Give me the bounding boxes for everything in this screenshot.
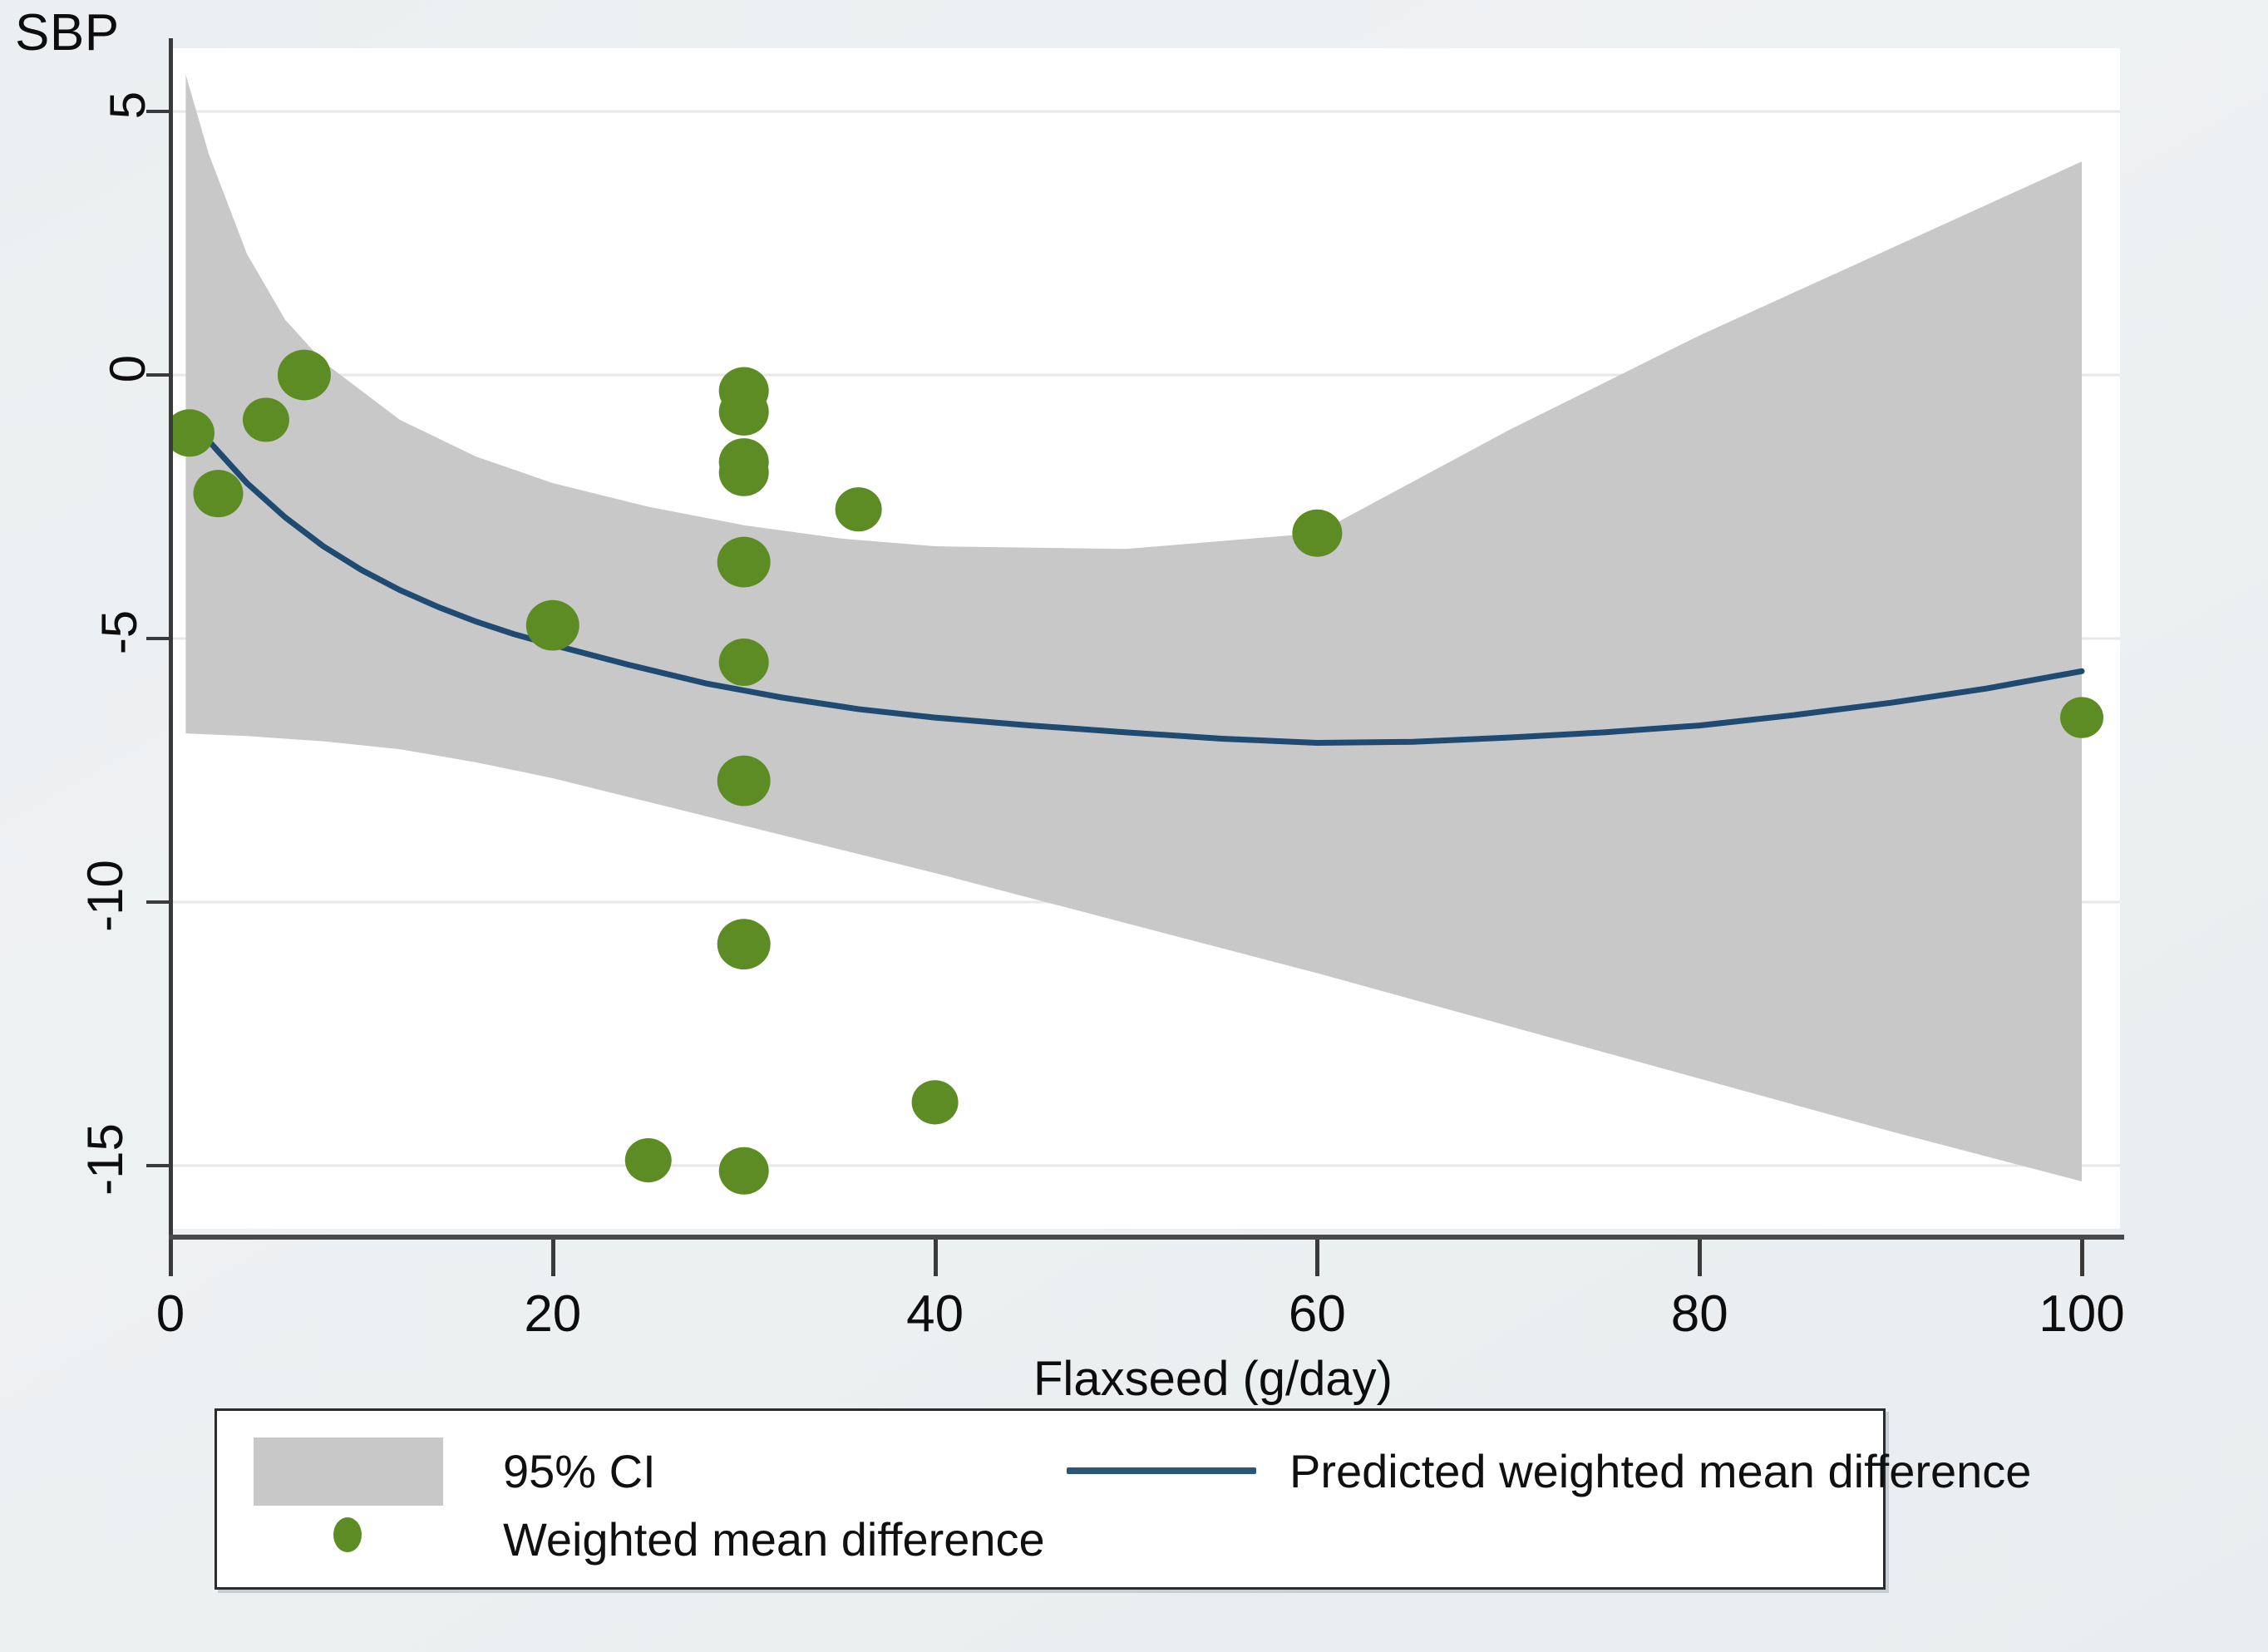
x-tick-label: 100 xyxy=(1990,1285,2173,1344)
x-tick-mark xyxy=(1315,1240,1319,1276)
data-point xyxy=(717,756,771,806)
y-tick-mark xyxy=(146,900,170,904)
plot-area xyxy=(170,48,2120,1229)
chart-figure: SBP 50-5-10-15 020406080100 Flaxseed (g/… xyxy=(0,0,2268,1652)
data-point xyxy=(243,397,289,441)
y-axis-title: SBP xyxy=(15,3,120,62)
legend-label-predicted-weighted-mean-difference: Predicted weighted mean difference xyxy=(1289,1444,2031,1498)
y-tick-label: -10 xyxy=(0,867,141,925)
legend-label-weighted-mean-difference: Weighted mean difference xyxy=(503,1512,1045,1566)
chart-legend: 95% CI Weighted mean difference Predicte… xyxy=(214,1408,1886,1590)
data-point xyxy=(193,470,243,517)
data-point xyxy=(719,1147,769,1195)
x-tick-label: 80 xyxy=(1608,1285,1791,1344)
y-tick-label: 5 xyxy=(0,76,141,134)
y-tick-mark xyxy=(146,637,170,640)
legend-key-point-marker xyxy=(333,1517,362,1552)
data-point xyxy=(1292,510,1342,557)
data-point xyxy=(912,1080,959,1124)
y-tick-label: 0 xyxy=(0,340,141,397)
data-point xyxy=(526,600,579,651)
x-axis-spine xyxy=(169,1235,2124,1240)
x-tick-label: 40 xyxy=(844,1285,1027,1344)
y-tick-label: -5 xyxy=(0,604,141,661)
data-point xyxy=(717,919,771,969)
x-tick-mark xyxy=(1698,1240,1702,1276)
data-point xyxy=(717,537,771,588)
x-tick-mark xyxy=(551,1240,555,1276)
data-point xyxy=(719,449,769,496)
data-point xyxy=(2060,697,2103,737)
x-tick-mark xyxy=(2080,1240,2084,1276)
legend-label-ci: 95% CI xyxy=(503,1444,656,1498)
y-tick-mark xyxy=(146,1164,170,1167)
legend-key-predicted-line xyxy=(1067,1467,1256,1474)
x-tick-label: 60 xyxy=(1225,1285,1408,1344)
x-tick-label: 0 xyxy=(79,1285,262,1344)
confidence-interval-band xyxy=(185,75,2082,1181)
y-tick-label: -15 xyxy=(0,1131,141,1188)
data-point xyxy=(719,639,769,686)
legend-key-ci-band xyxy=(254,1437,443,1506)
x-tick-mark xyxy=(934,1240,938,1276)
data-point xyxy=(278,350,331,401)
x-axis-title: Flaxseed (g/day) xyxy=(0,1351,2268,1407)
data-point xyxy=(625,1138,672,1182)
x-tick-label: 20 xyxy=(461,1285,644,1344)
data-point xyxy=(836,487,882,531)
plot-canvas xyxy=(170,48,2120,1229)
x-tick-mark xyxy=(169,1240,173,1276)
data-point xyxy=(719,388,769,436)
